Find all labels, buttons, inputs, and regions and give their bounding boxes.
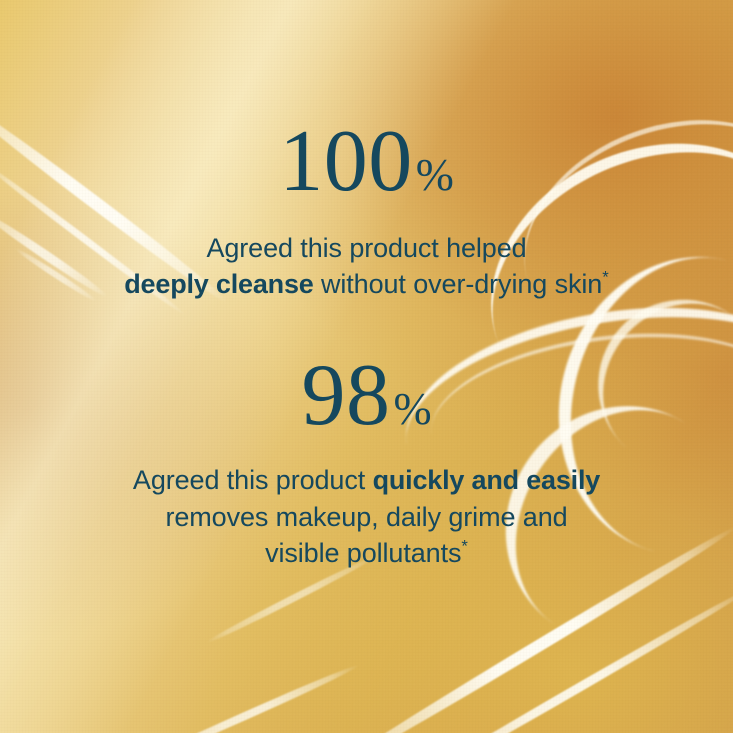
claim-2-statistic: 98% bbox=[0, 352, 733, 440]
claim-1-footnote-marker: * bbox=[602, 268, 609, 287]
claim-1-percent-sign: % bbox=[416, 149, 454, 200]
claim-2-line-2: removes makeup, daily grime and bbox=[165, 502, 567, 532]
claim-1-line-1: Agreed this product helped bbox=[206, 233, 526, 263]
claim-2-footnote-marker: * bbox=[461, 536, 468, 555]
claim-1-line-2-rest: without over-drying skin bbox=[314, 269, 603, 299]
claim-1-stat-number: 100 bbox=[279, 113, 413, 210]
claim-1-text: Agreed this product helped deeply cleans… bbox=[57, 230, 677, 302]
claim-2-line-3: visible pollutants bbox=[265, 538, 461, 568]
claim-2-emphasis: quickly and easily bbox=[373, 465, 601, 495]
claim-2-percent-sign: % bbox=[393, 383, 431, 434]
claim-1-statistic: 100% bbox=[0, 118, 733, 206]
claim-block-2: 98% Agreed this product quickly and easi… bbox=[0, 352, 733, 571]
claim-block-1: 100% Agreed this product helped deeply c… bbox=[0, 118, 733, 302]
product-claims-card: 100% Agreed this product helped deeply c… bbox=[0, 0, 733, 733]
claim-2-text: Agreed this product quickly and easily r… bbox=[57, 462, 677, 571]
claim-2-line-1-rest: Agreed this product bbox=[133, 465, 373, 495]
claim-2-stat-number: 98 bbox=[301, 347, 390, 444]
claim-1-emphasis: deeply cleanse bbox=[124, 269, 313, 299]
claims-content: 100% Agreed this product helped deeply c… bbox=[0, 0, 733, 733]
